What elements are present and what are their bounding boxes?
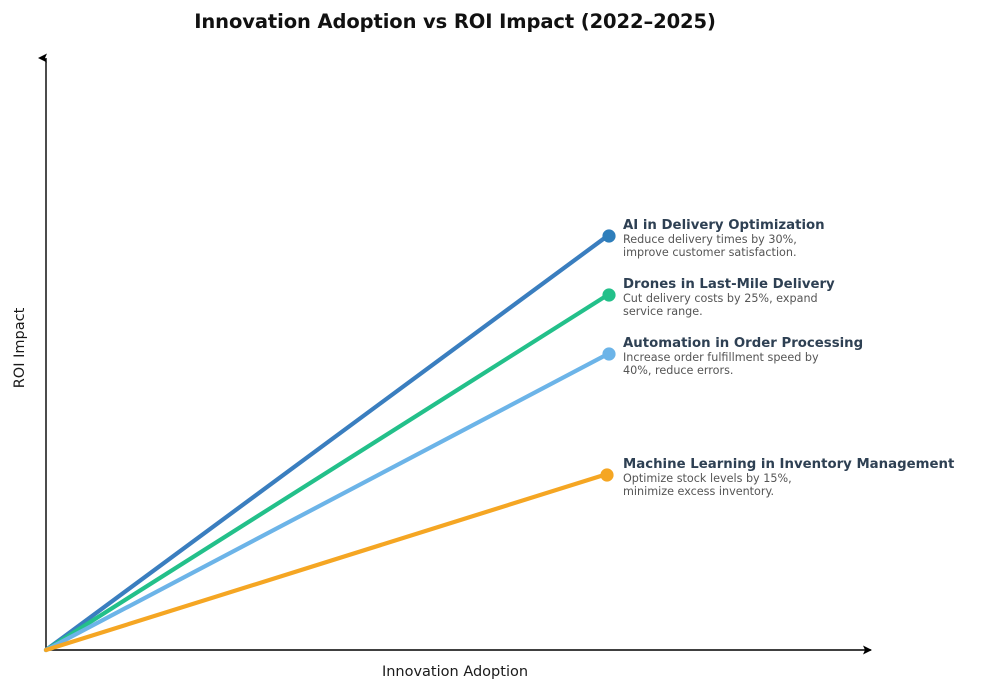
- annotation-desc-line1: Increase order fulfillment speed by: [623, 351, 863, 364]
- annotation-automation-in-order-processing[interactable]: Automation in Order Processing Increase …: [623, 336, 863, 377]
- annotation-desc-line1: Reduce delivery times by 30%,: [623, 233, 825, 246]
- y-axis-label: ROI Impact: [12, 288, 28, 408]
- annotation-desc-line2: minimize excess inventory.: [623, 485, 954, 498]
- annotation-drones-in-last-mile-delivery[interactable]: Drones in Last-Mile Delivery Cut deliver…: [623, 277, 835, 318]
- line-drones-in-last-mile-delivery: [46, 296, 606, 650]
- annotation-desc-line2: service range.: [623, 305, 835, 318]
- series-lines: [46, 237, 606, 650]
- marker-drones-in-last-mile-delivery[interactable]: [602, 288, 615, 301]
- annotation-desc-line1: Cut delivery costs by 25%, expand: [623, 292, 835, 305]
- annotation-title: AI in Delivery Optimization: [623, 218, 825, 233]
- series-end-markers: [600, 229, 615, 481]
- marker-ai-in-delivery-optimization[interactable]: [602, 229, 615, 242]
- annotation-title: Drones in Last-Mile Delivery: [623, 277, 835, 292]
- annotation-desc-line1: Optimize stock levels by 15%,: [623, 472, 954, 485]
- annotation-title: Automation in Order Processing: [623, 336, 863, 351]
- x-axis-label: Innovation Adoption: [0, 664, 910, 680]
- annotation-desc-line2: improve customer satisfaction.: [623, 246, 825, 259]
- line-ai-in-delivery-optimization: [46, 237, 606, 650]
- annotation-ai-in-delivery-optimization[interactable]: AI in Delivery Optimization Reduce deliv…: [623, 218, 825, 259]
- annotation-machine-learning-in-inventory-management[interactable]: Machine Learning in Inventory Management…: [623, 457, 954, 498]
- annotation-desc-line2: 40%, reduce errors.: [623, 364, 863, 377]
- marker-automation-in-order-processing[interactable]: [602, 347, 615, 360]
- annotation-title: Machine Learning in Inventory Management: [623, 457, 954, 472]
- marker-machine-learning-in-inventory-management[interactable]: [600, 468, 613, 481]
- chart-container: Innovation Adoption vs ROI Impact (2022–…: [0, 0, 1000, 700]
